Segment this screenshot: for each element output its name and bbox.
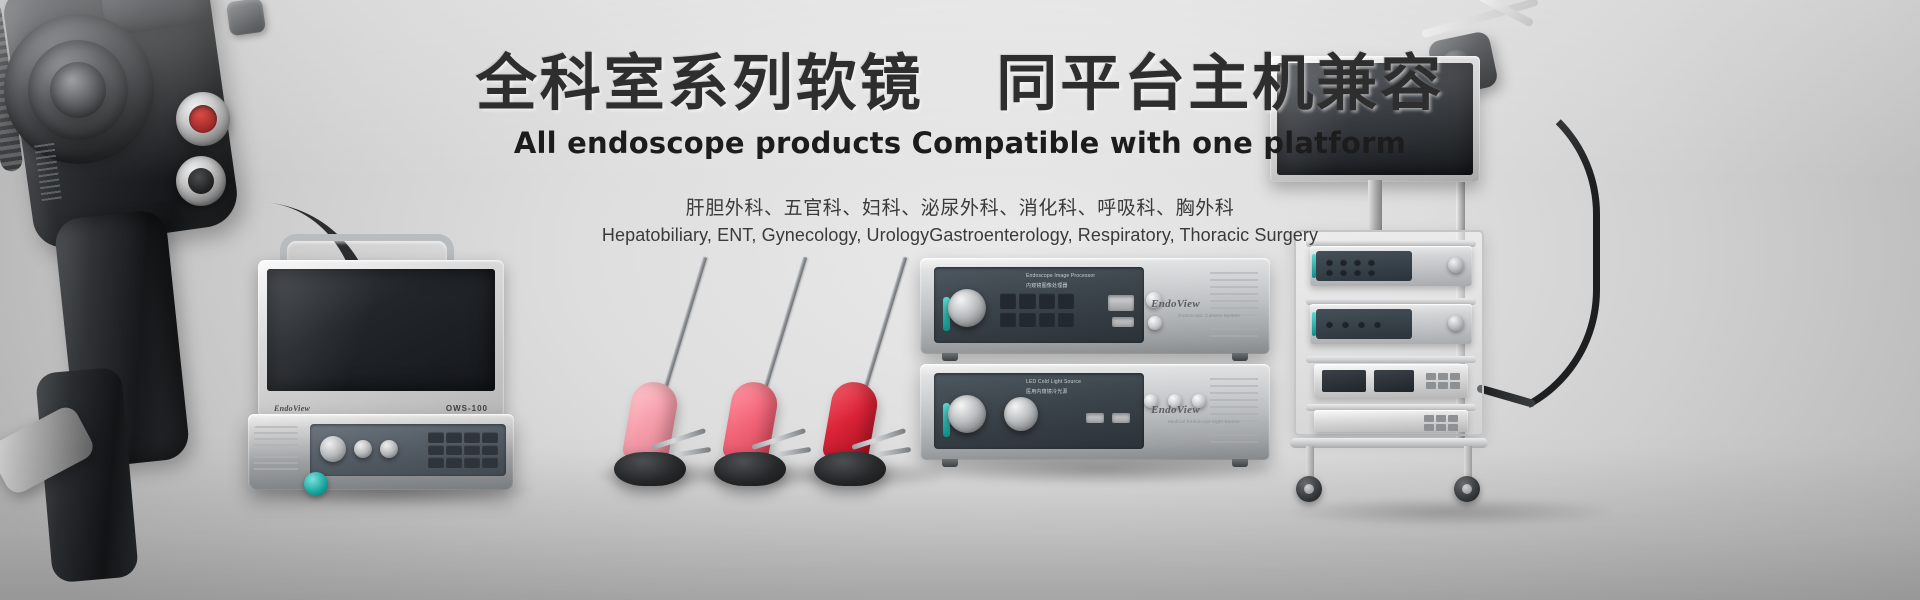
light-source-intensity-knob	[1004, 397, 1038, 431]
processor-stack-image: Endoscope Image Processor 内窥镜图像处理器 EndoV…	[920, 258, 1270, 470]
product-banner: 全科室系列软镜 同平台主机兼容 All endoscope products C…	[0, 0, 1920, 600]
trolley-shelf-3	[1306, 356, 1476, 363]
workstation-keypad	[428, 432, 498, 468]
trolley-unit-panel	[1316, 309, 1412, 339]
processor-foot-right	[1232, 353, 1248, 361]
light-source-port-a	[1086, 413, 1104, 423]
description-english: Hepatobiliary, ENT, Gynecology, UrologyG…	[0, 225, 1920, 246]
processor-vent-top	[1210, 272, 1258, 338]
workstation-teal-indicator	[304, 472, 328, 496]
trolley-leg-left	[1306, 446, 1314, 480]
processor-brand-label: EndoView	[1151, 298, 1200, 310]
trolley-drawer-2	[1314, 410, 1468, 432]
trolley-drawer-display-2	[1374, 370, 1414, 392]
processor-title-en: Endoscope Image Processor	[1026, 273, 1095, 279]
processor-title-cn: 内窥镜图像处理器	[1026, 282, 1068, 289]
trolley-drawer-display-1	[1322, 370, 1366, 392]
image-processor-unit: Endoscope Image Processor 内窥镜图像处理器 EndoV…	[920, 258, 1270, 354]
workstation-dial-2	[354, 440, 372, 458]
workstation-display-frame: EndoView OWS-100	[258, 260, 504, 418]
workstation-model-label: OWS-100	[446, 404, 488, 413]
trolley-caster-left	[1296, 476, 1322, 502]
light-source-foot-right	[1232, 459, 1248, 467]
trolley-drawer2-buttons	[1424, 415, 1458, 431]
instrument-stand-base	[814, 452, 886, 486]
rigid-instrument-red-image	[790, 250, 940, 490]
headline: 全科室系列软镜 同平台主机兼容	[0, 48, 1920, 120]
light-source-foot-left	[942, 459, 958, 467]
headline-part-2: 同平台主机兼容	[996, 48, 1444, 119]
banner-copy: 全科室系列软镜 同平台主机兼容 All endoscope products C…	[0, 48, 1920, 246]
endoscope-button-3	[226, 0, 266, 36]
workstation-dial-main	[320, 436, 346, 462]
processor-button-grid	[1000, 293, 1074, 327]
workstation-brand-label: EndoView	[274, 404, 310, 413]
workstation-base-unit	[248, 414, 514, 490]
description-chinese: 肝胆外科、五官科、妇科、泌尿外科、消化科、呼吸科、胸外科	[0, 193, 1920, 220]
light-source-port-b	[1112, 413, 1130, 423]
processor-button-b	[1148, 316, 1162, 330]
headline-part-1: 全科室系列软镜	[476, 48, 924, 119]
trolley-unit-knob	[1448, 315, 1464, 331]
trolley-leg-right	[1464, 446, 1472, 480]
trolley-unit-camera	[1310, 246, 1472, 286]
processor-port-lower	[1112, 317, 1134, 327]
trolley-base-plate	[1290, 438, 1488, 448]
processor-port-upper	[1108, 295, 1134, 311]
processor-subtitle-label: Endoscopic Camera System	[1178, 313, 1240, 318]
light-source-brand-label: EndoView	[1151, 404, 1200, 416]
instrument-stand-base	[714, 452, 786, 486]
trolley-unit-knob	[1448, 257, 1464, 273]
trolley-equipment-frame	[1294, 230, 1484, 436]
light-source-title-cn: 医用内窥镜冷光源	[1026, 388, 1068, 395]
workstation-ows100-image: EndoView OWS-100	[240, 250, 520, 490]
trolley-caster-right	[1454, 476, 1480, 502]
instrument-stand-base	[614, 452, 686, 486]
workstation-vent	[254, 426, 298, 474]
trolley-unit-panel	[1316, 251, 1412, 281]
trolley-drawer-buttons	[1426, 373, 1460, 389]
light-source-title-en: LED Cold Light Source	[1026, 379, 1081, 385]
trolley-unit-light	[1310, 304, 1472, 344]
light-source-subtitle-label: Medical Endoscope Light Source	[1168, 419, 1240, 424]
trolley-drawer-1	[1314, 364, 1468, 398]
workstation-display-screen	[267, 269, 495, 391]
workstation-dial-3	[380, 440, 398, 458]
light-source-vent	[1210, 378, 1258, 444]
workstation-control-panel	[310, 424, 506, 476]
cold-light-source-unit: LED Cold Light Source 医用内窥镜冷光源 EndoView …	[920, 364, 1270, 460]
subheadline-english: All endoscope products Compatible with o…	[0, 126, 1920, 160]
processor-front-panel: Endoscope Image Processor 内窥镜图像处理器	[934, 267, 1144, 343]
processor-foot-left	[942, 353, 958, 361]
light-source-front-panel: LED Cold Light Source 医用内窥镜冷光源	[934, 373, 1144, 449]
light-source-main-knob	[948, 395, 986, 433]
processor-main-knob	[948, 289, 986, 327]
